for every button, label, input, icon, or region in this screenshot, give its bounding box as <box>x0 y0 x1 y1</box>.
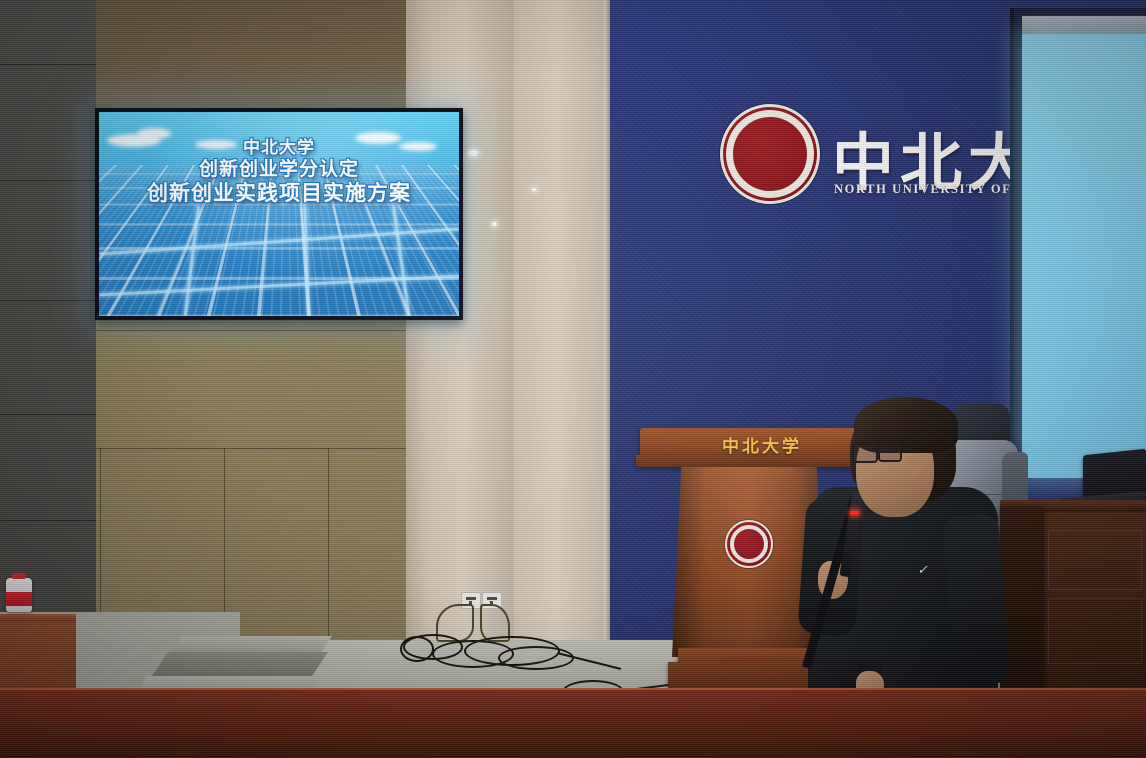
secondary-projection-screen <box>1022 34 1146 478</box>
water-bottle <box>6 578 32 612</box>
presenter-ear <box>908 457 921 476</box>
stage-step-riser-1 <box>152 652 328 676</box>
seal-micro-text-backdrop: 中北大学 <box>723 186 817 192</box>
side-cabinet-edge <box>0 614 76 622</box>
secondary-screen-header <box>1022 16 1146 34</box>
bottle-label <box>6 592 32 606</box>
presenter-arm-far <box>942 513 1010 686</box>
secondary-screen-frame <box>1010 8 1146 478</box>
microphone-led-icon <box>850 511 859 515</box>
desk-panel-lower <box>1048 598 1142 664</box>
glasses-bridge <box>873 448 880 450</box>
university-seal-backdrop: 中北大学 <box>720 104 820 204</box>
screen-surface: 中北大学 创新创业学分认定 创新创业实践项目实施方案 <box>99 112 459 316</box>
glasses-lens-left <box>852 443 878 463</box>
lecture-hall-photo: 中北大学 中北大 NORTH UNIVERSITY OF CHI 中北大 <box>0 0 1146 758</box>
main-led-screen: 中北大学 创新创业学分认定 创新创业实践项目实施方案 <box>95 108 463 320</box>
slide-line-2: 创新创业学分认定 <box>99 158 459 181</box>
slide-line-3: 创新创业实践项目实施方案 <box>99 181 459 206</box>
bottle-cap <box>12 573 26 579</box>
slide-line-1: 中北大学 <box>99 138 459 158</box>
slide-text-block: 中北大学 创新创业学分认定 创新创业实践项目实施方案 <box>99 138 459 206</box>
stone-pillar-left <box>406 0 514 640</box>
cable-coil-4 <box>498 646 574 670</box>
lectern-text: 中北大学 <box>722 432 802 457</box>
glasses-lens-right <box>878 443 902 462</box>
stone-pillar-right <box>514 0 610 640</box>
stage-front-edge <box>0 690 1146 758</box>
cable-loop-small <box>400 636 434 662</box>
desk-panel-upper <box>1048 530 1142 590</box>
university-seal-lectern <box>725 520 773 568</box>
